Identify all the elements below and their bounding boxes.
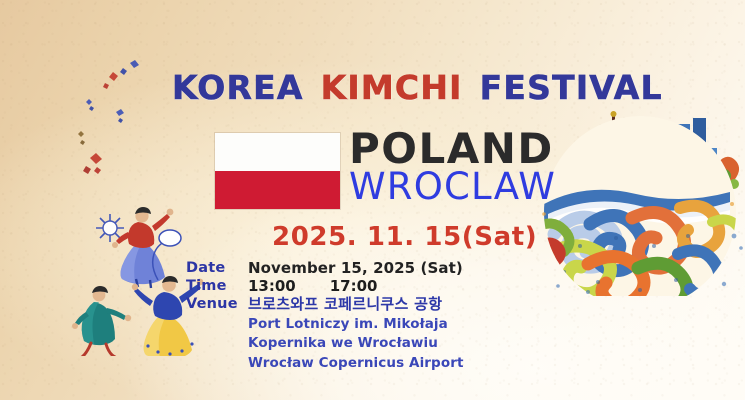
venue-line-polish-1: Port Lotniczy im. Mikołaja: [248, 315, 464, 335]
event-details: Date November 15, 2025 (Sat) Time 13:00 …: [186, 259, 464, 373]
flag-stripe-red: [215, 171, 340, 209]
poland-flag: [215, 133, 340, 209]
title-word-kimchi: KIMCHI: [321, 71, 463, 104]
flag-stripe-white: [215, 133, 340, 171]
city-name: WROCLAW: [349, 168, 556, 205]
title-word-festival: FESTIVAL: [480, 71, 663, 104]
venue-line-korean: 브로츠와프 코페르니쿠스 공항: [248, 295, 464, 315]
time-end: 17:00: [330, 277, 378, 295]
festival-title: KOREA KIMCHI FESTIVAL: [172, 71, 663, 104]
title-word-korea: KOREA: [172, 71, 304, 104]
venue-value: 브로츠와프 코페르니쿠스 공항 Port Lotniczy im. Mikoła…: [248, 295, 464, 373]
venue-line-polish-2: Kopernika we Wrocławiu: [248, 334, 464, 354]
poster-canvas: KOREA KIMCHI FESTIVAL POLAND WROCLAW 202…: [0, 0, 745, 400]
time-label: Time: [186, 277, 248, 295]
date-value: November 15, 2025 (Sat): [248, 259, 464, 277]
colorful-globe-illustration: [528, 96, 745, 296]
event-date-headline: 2025. 11. 15(Sat): [272, 224, 537, 250]
time-value: 13:00 17:00: [248, 277, 464, 295]
time-start: 13:00: [248, 277, 296, 295]
country-name: POLAND: [349, 128, 554, 170]
venue-label: Venue: [186, 295, 248, 313]
date-label: Date: [186, 259, 248, 277]
venue-line-english: Wrocław Copernicus Airport: [248, 354, 464, 374]
